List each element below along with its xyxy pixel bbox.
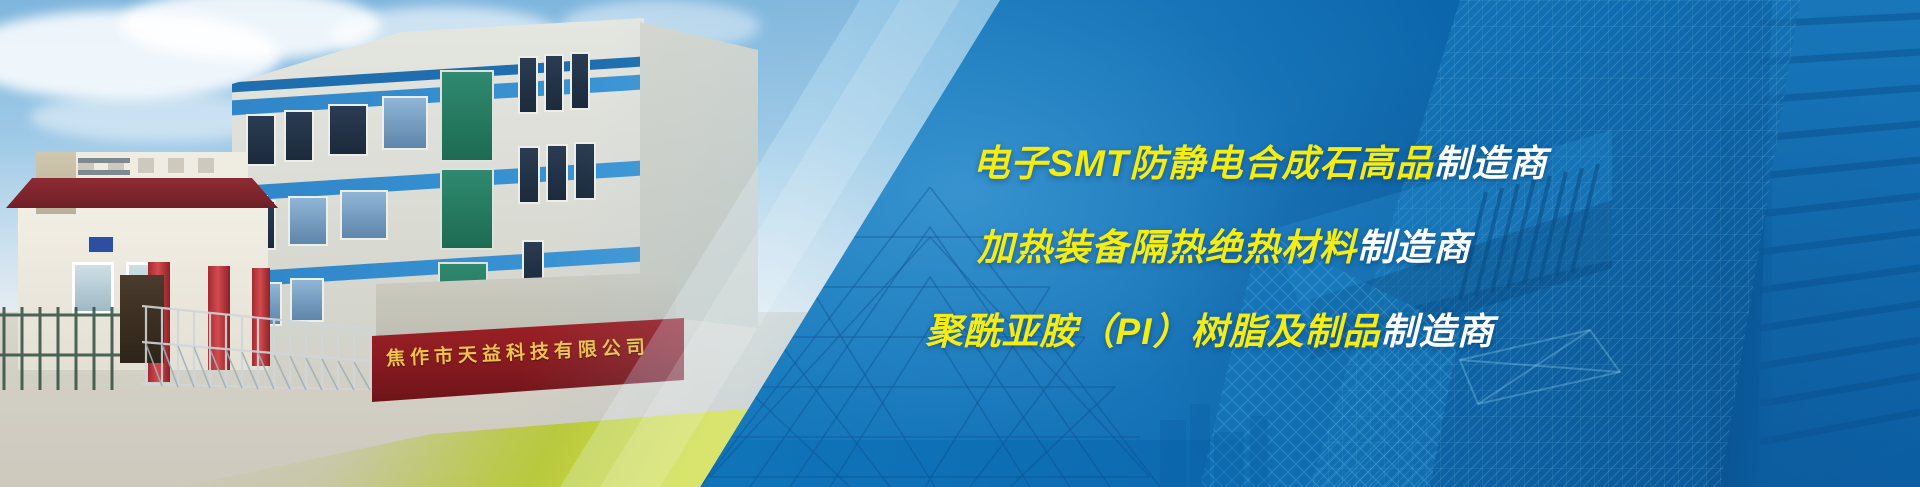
hero-banner: 焦作市天益科技有限公司 电子SMT防静电合成石高品制造商 加热装备隔热绝热材料制…: [0, 0, 1920, 487]
modern-building-illustration: [1160, 0, 1920, 487]
